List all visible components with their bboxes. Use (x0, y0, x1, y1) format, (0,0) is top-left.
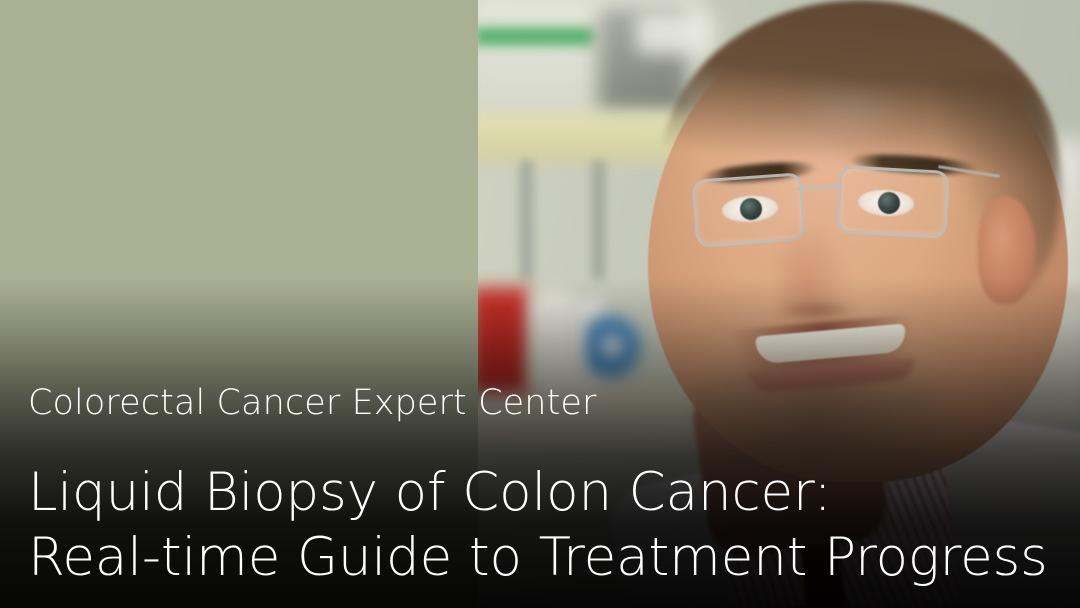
title-overlay: Colorectal Cancer Expert Center Liquid B… (0, 386, 1080, 608)
eyeglasses-lens-right (836, 165, 949, 239)
video-title-card: Colorectal Cancer Expert Center Liquid B… (0, 0, 1080, 608)
program-subtitle: Colorectal Cancer Expert Center (28, 386, 1080, 421)
page-title-line-1: Liquid Biopsy of Colon Cancer: (28, 460, 1080, 525)
page-title-line-2: Real-time Guide to Treatment Progress (28, 525, 1080, 590)
page-title: Liquid Biopsy of Colon Cancer: Real-time… (28, 460, 1080, 590)
